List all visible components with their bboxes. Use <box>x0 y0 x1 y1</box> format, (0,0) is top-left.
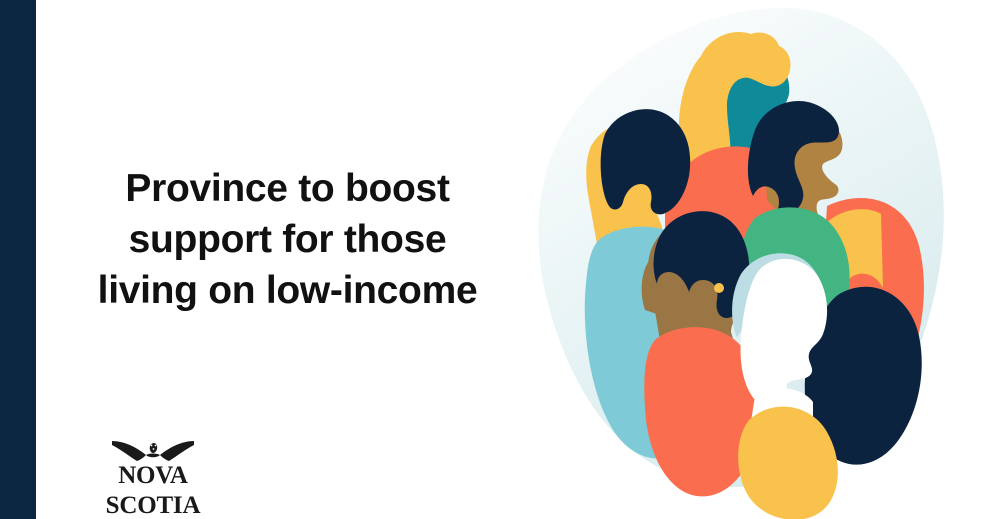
earring-dot <box>714 283 724 293</box>
news-banner: Province to boost support for those livi… <box>0 0 989 519</box>
nova-scotia-logo: NOVA SCOTIA <box>80 437 226 495</box>
page-title: Province to boost support for those livi… <box>60 163 515 316</box>
diverse-group-illustration <box>505 0 989 519</box>
nova-scotia-wordmark: NOVA SCOTIA <box>80 461 226 519</box>
left-accent-bar <box>0 0 36 519</box>
